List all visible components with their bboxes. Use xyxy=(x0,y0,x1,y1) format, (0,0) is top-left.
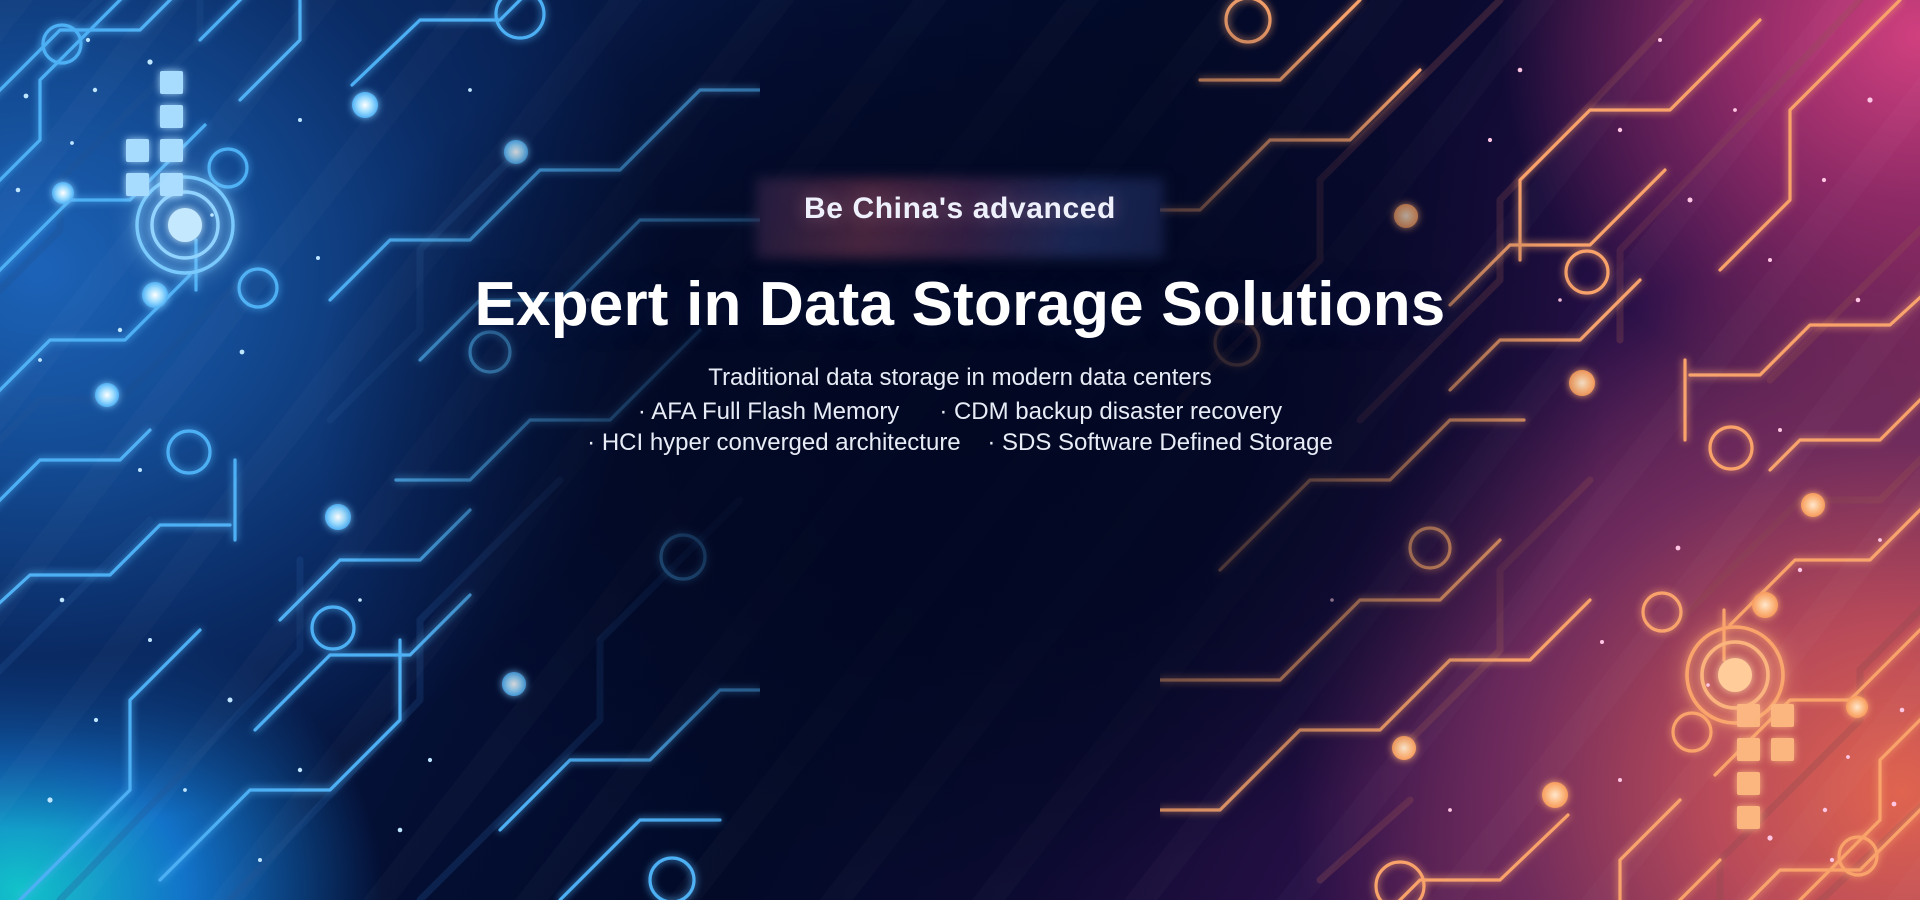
hero-banner: Be China's advanced Expert in Data Stora… xyxy=(0,0,1920,900)
eyebrow-text: Be China's advanced xyxy=(804,194,1116,224)
subtitle-line-bullets-1: · AFA Full Flash Memory · CDM backup dis… xyxy=(0,397,1920,427)
subtitle-line-intro: Traditional data storage in modern data … xyxy=(0,363,1920,393)
subtitle-list: Traditional data storage in modern data … xyxy=(0,363,1920,458)
page-title: Expert in Data Storage Solutions xyxy=(0,272,1920,337)
hero-content: Be China's advanced Expert in Data Stora… xyxy=(0,178,1920,458)
eyebrow-container: Be China's advanced xyxy=(756,178,1164,258)
subtitle-line-bullets-2: · HCI hyper converged architecture · SDS… xyxy=(0,428,1920,458)
